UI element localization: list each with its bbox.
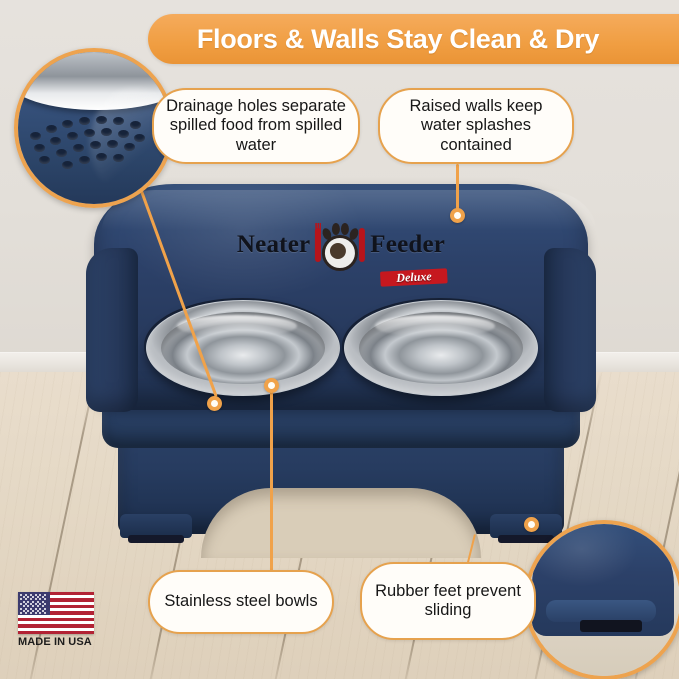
deluxe-badge-wrap: Deluxe [354,246,474,266]
flag-star [32,605,34,607]
made-in-usa-label: MADE IN USA [18,636,100,648]
callout-stainless-bowls: Stainless steel bowls [148,570,334,634]
inset-rubber-foot-closeup [524,520,679,679]
pet-feeder: Neater Feeder Deluxe [86,178,596,538]
flag-star [23,605,25,607]
flag-star [39,598,41,600]
flag-star [44,603,46,605]
callout-rubber-feet: Rubber feet prevent sliding [360,562,536,640]
callout-walls-text: Raised walls keep water splashes contain… [390,97,562,155]
connector-walls [456,164,459,214]
flag-star [35,594,37,596]
fork-icon [315,228,321,262]
feeder-wall-right [544,248,596,412]
brand-word-neater: Neater [237,231,310,259]
feeder-base-arch [201,488,481,558]
stainless-bowl-left [146,300,340,396]
inset-rubber-pad [580,620,642,632]
connector-dot-walls [450,208,465,223]
feeder-wall-left [86,248,138,412]
plate-icon [322,235,358,271]
callout-drainage-text: Drainage holes separate spilled food fro… [164,97,348,155]
flag-star [20,598,22,600]
flag-star [35,612,37,614]
inset-feet-surface [528,524,679,676]
stainless-bowl-right [344,300,538,396]
flag-star [42,605,44,607]
inset-drainage-closeup [14,48,174,208]
flag-star [44,594,46,596]
flag-star [35,598,37,600]
flag-star [32,596,34,598]
drainage-holes-group [30,114,150,170]
bowl-highlight-right [375,315,495,337]
flag-star [37,605,39,607]
made-in-usa-badge: MADE IN USA [18,592,106,654]
callout-feet-text: Rubber feet prevent sliding [372,582,524,621]
callout-raised-walls: Raised walls keep water splashes contain… [378,88,574,164]
flag-star [32,601,34,603]
flag-star [20,608,22,610]
flag-star [39,594,41,596]
product-infographic: Neater Feeder Deluxe [0,0,679,679]
flag-star [25,612,27,614]
connector-bowls [270,386,273,572]
feeder-foot-left [120,514,192,538]
flag-canton [18,592,50,615]
callout-drainage-holes: Drainage holes separate spilled food fro… [152,88,360,164]
connector-dot-drainage [207,396,222,411]
usa-flag-icon [18,592,94,634]
flag-star [30,612,32,614]
flag-star [25,598,27,600]
connector-dot-bowls [264,378,279,393]
callout-bowls-text: Stainless steel bowls [164,592,317,611]
flag-star [20,594,22,596]
flag-star [39,612,41,614]
banner-title: Floors & Walls Stay Clean & Dry [197,24,659,55]
inset-drainage-surface [18,52,170,204]
flag-star [44,598,46,600]
flag-star [27,605,29,607]
flag-star [27,601,29,603]
title-banner: Floors & Walls Stay Clean & Dry [148,14,679,64]
flag-star [20,603,22,605]
flag-star [20,612,22,614]
flag-star [44,612,46,614]
flag-star [39,608,41,610]
flag-star [44,608,46,610]
flag-star [30,598,32,600]
flag-star [32,610,34,612]
inset-leg-lip [546,600,656,622]
rubber-foot-left [128,535,184,543]
